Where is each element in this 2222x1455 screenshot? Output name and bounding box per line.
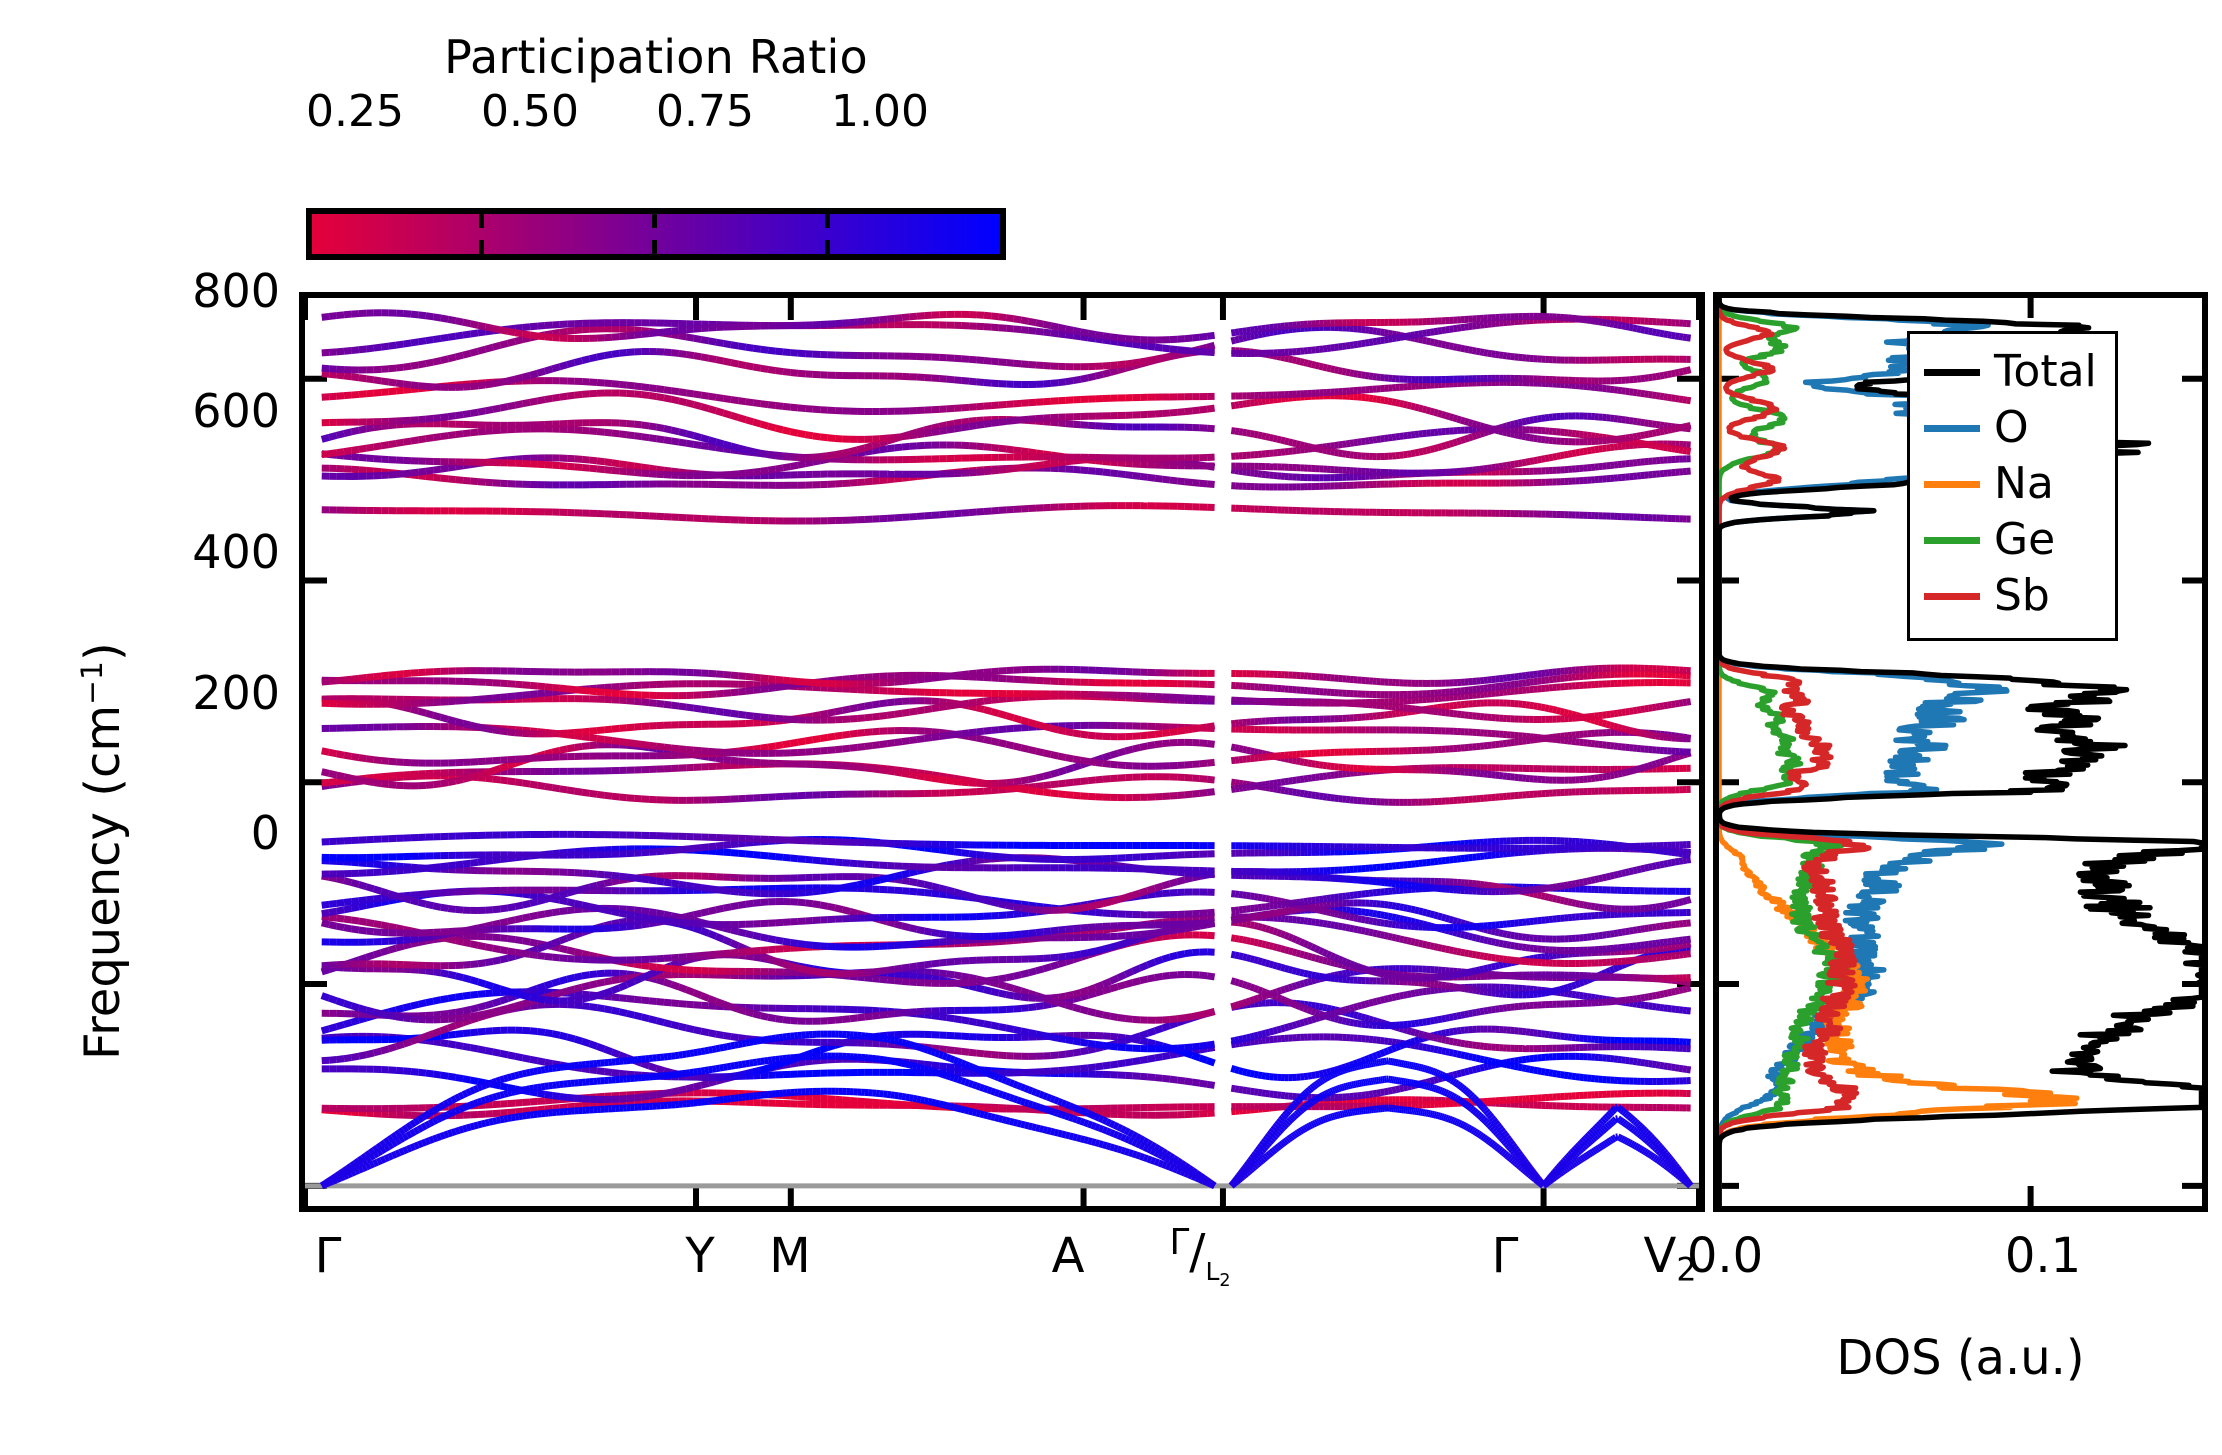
colorbar-tick-label-2: 0.75 — [625, 86, 785, 137]
legend-label-total: Total — [1994, 350, 2097, 394]
band-structure-plot — [305, 298, 1699, 1206]
phonon-band-structure-panel[interactable] — [299, 292, 1705, 1212]
colorbar-tick-label-1: 0.50 — [450, 86, 610, 137]
colorbar-tick-1b — [652, 240, 657, 254]
y-axis-label-text: Frequency (cm — [75, 705, 131, 1060]
colorbar-tick-2b — [825, 240, 830, 254]
colorbar-tick-1 — [652, 214, 657, 228]
legend-swatch-ge — [1924, 537, 1980, 544]
colorbar-tick-label-0: 0.25 — [275, 86, 435, 137]
x-tick-label-slash: / — [1189, 1224, 1205, 1280]
legend-item-o[interactable]: O — [1924, 400, 2097, 456]
legend-swatch-total — [1924, 369, 1980, 376]
band-branch — [1231, 327, 1690, 360]
dos-x-tick-label-0: 0.0 — [1625, 1228, 1825, 1284]
colorbar-gradient — [306, 208, 1006, 260]
x-tick-label-gamma-L2: Γ/L2 — [1100, 1222, 1300, 1291]
legend-swatch-na — [1924, 481, 1980, 488]
dos-x-axis-label: DOS (a.u.) — [1713, 1330, 2208, 1386]
band-branch — [322, 506, 1215, 521]
legend-item-total[interactable]: Total — [1924, 344, 2097, 400]
band-branch — [1231, 508, 1690, 519]
colorbar-tick-0 — [479, 214, 484, 228]
x-tick-label-M: M — [690, 1228, 890, 1284]
band-branch — [1231, 351, 1690, 381]
legend-label-na: Na — [1994, 462, 2054, 506]
legend-label-sb: Sb — [1994, 574, 2050, 618]
colorbar-tick-0b — [479, 240, 484, 254]
legend-label-ge: Ge — [1994, 518, 2055, 562]
dos-legend[interactable]: Total O Na Ge Sb — [1907, 331, 2118, 641]
colorbar-tick-2 — [825, 214, 830, 228]
y-tick-label-800: 800 — [80, 264, 280, 318]
participation-ratio-colorbar[interactable] — [306, 208, 1006, 260]
y-tick-label-400: 400 — [80, 525, 280, 579]
colorbar-title: Participation Ratio — [306, 30, 1006, 84]
colorbar-tick-label-3: 1.00 — [800, 86, 960, 137]
legend-swatch-sb — [1924, 593, 1980, 600]
legend-item-ge[interactable]: Ge — [1924, 512, 2097, 568]
x-tick-label-gamma-part: Γ — [1170, 1222, 1190, 1263]
y-tick-label-600: 600 — [80, 384, 280, 438]
legend-item-sb[interactable]: Sb — [1924, 568, 2097, 624]
legend-label-o: O — [1994, 406, 2029, 450]
dos-x-tick-label-1: 0.1 — [1943, 1228, 2143, 1284]
y-axis-label-tail: ) — [75, 642, 131, 661]
legend-swatch-o — [1924, 425, 1980, 432]
legend-item-na[interactable]: Na — [1924, 456, 2097, 512]
y-tick-label-0: 0 — [80, 806, 280, 860]
x-tick-label-L2-part: L2 — [1205, 1257, 1230, 1286]
y-tick-label-200: 200 — [80, 666, 280, 720]
band-branch — [1231, 782, 1690, 802]
band-branch — [1231, 844, 1690, 848]
x-tick-label-gamma-1: Γ — [228, 1228, 428, 1284]
